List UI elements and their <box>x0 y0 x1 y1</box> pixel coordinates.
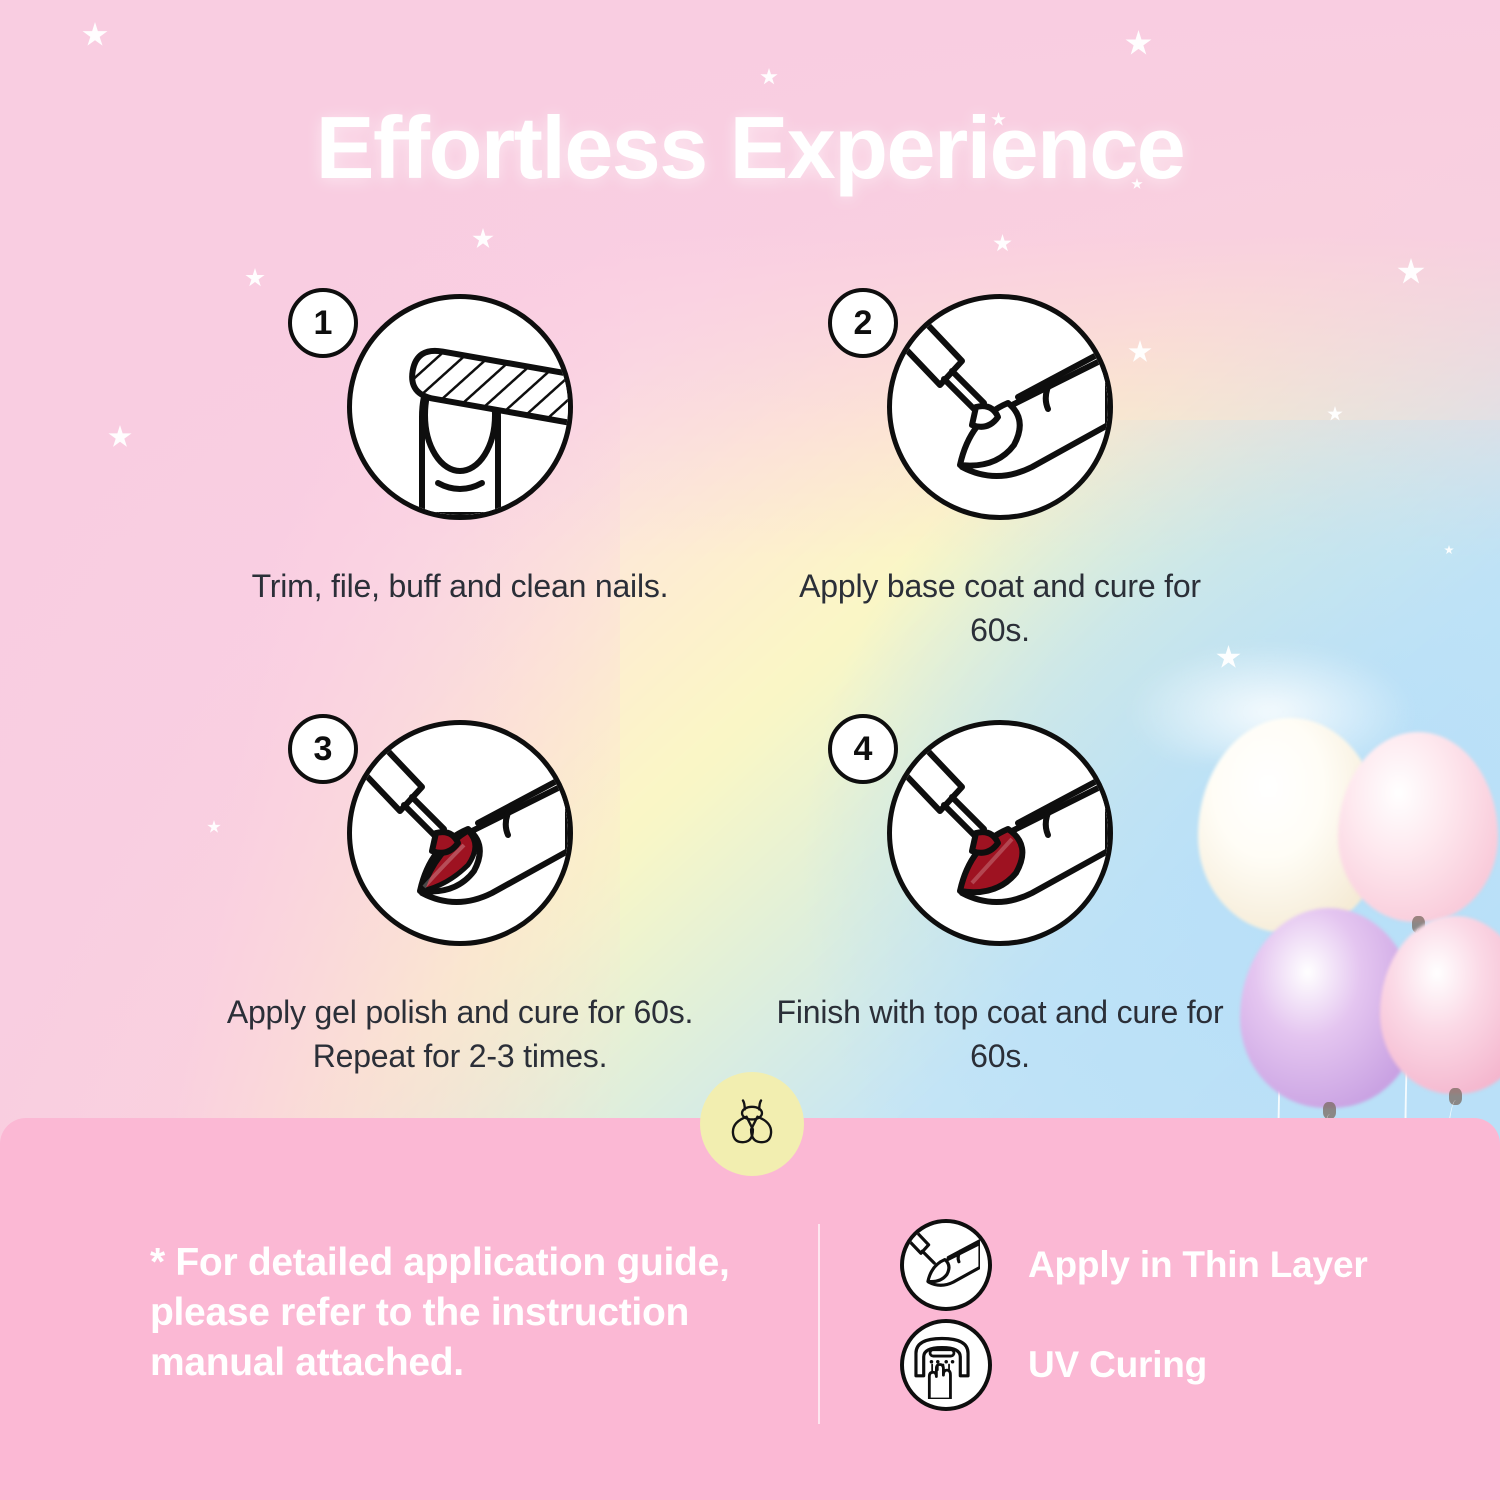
step-4-caption: Finish with top coat and cure for 60s. <box>730 990 1270 1078</box>
step-3-caption: Apply gel polish and cure for 60s. Repea… <box>190 990 730 1078</box>
balloon-pink-2 <box>1380 916 1500 1094</box>
steps-row-2: 3 <box>190 714 1270 1078</box>
step-3-number-badge: 3 <box>288 714 358 784</box>
steps-section: 1 <box>190 288 1270 1079</box>
footer-divider <box>818 1224 820 1424</box>
step-4-figure: 4 <box>730 714 1270 966</box>
feature-thin-layer-label: Apply in Thin Layer <box>1028 1244 1368 1286</box>
step-3-figure: 3 <box>190 714 730 966</box>
page-title: Effortless Experience <box>0 104 1500 192</box>
thin-layer-brush-icon <box>900 1219 992 1311</box>
step-1-figure: 1 <box>190 288 730 540</box>
top-coat-brush-icon <box>887 720 1113 946</box>
step-2-caption: Apply base coat and cure for 60s. <box>730 564 1270 652</box>
balloon-pink <box>1338 732 1498 922</box>
footer-note: * For detailed application guide, please… <box>150 1238 790 1388</box>
step-3: 3 <box>190 714 730 1078</box>
gel-polish-brush-icon <box>347 720 573 946</box>
feature-thin-layer: Apply in Thin Layer <box>900 1215 1440 1315</box>
step-1-number-badge: 1 <box>288 288 358 358</box>
feature-uv-curing: UV Curing <box>900 1315 1440 1415</box>
nail-file-icon <box>347 294 573 520</box>
feature-uv-curing-label: UV Curing <box>1028 1344 1207 1386</box>
steps-row-1: 1 <box>190 288 1270 652</box>
base-coat-brush-icon <box>887 294 1113 520</box>
step-4: 4 Fi <box>730 714 1270 1078</box>
uv-lamp-icon <box>900 1319 992 1411</box>
butterfly-logo-icon <box>700 1072 804 1176</box>
step-2-number-badge: 2 <box>828 288 898 358</box>
step-1-caption: Trim, file, buff and clean nails. <box>190 564 730 608</box>
step-4-number-badge: 4 <box>828 714 898 784</box>
step-2-figure: 2 <box>730 288 1270 540</box>
footer-features: Apply in Thin Layer UV Curing <box>900 1215 1440 1415</box>
step-2: 2 <box>730 288 1270 652</box>
step-1: 1 <box>190 288 730 652</box>
